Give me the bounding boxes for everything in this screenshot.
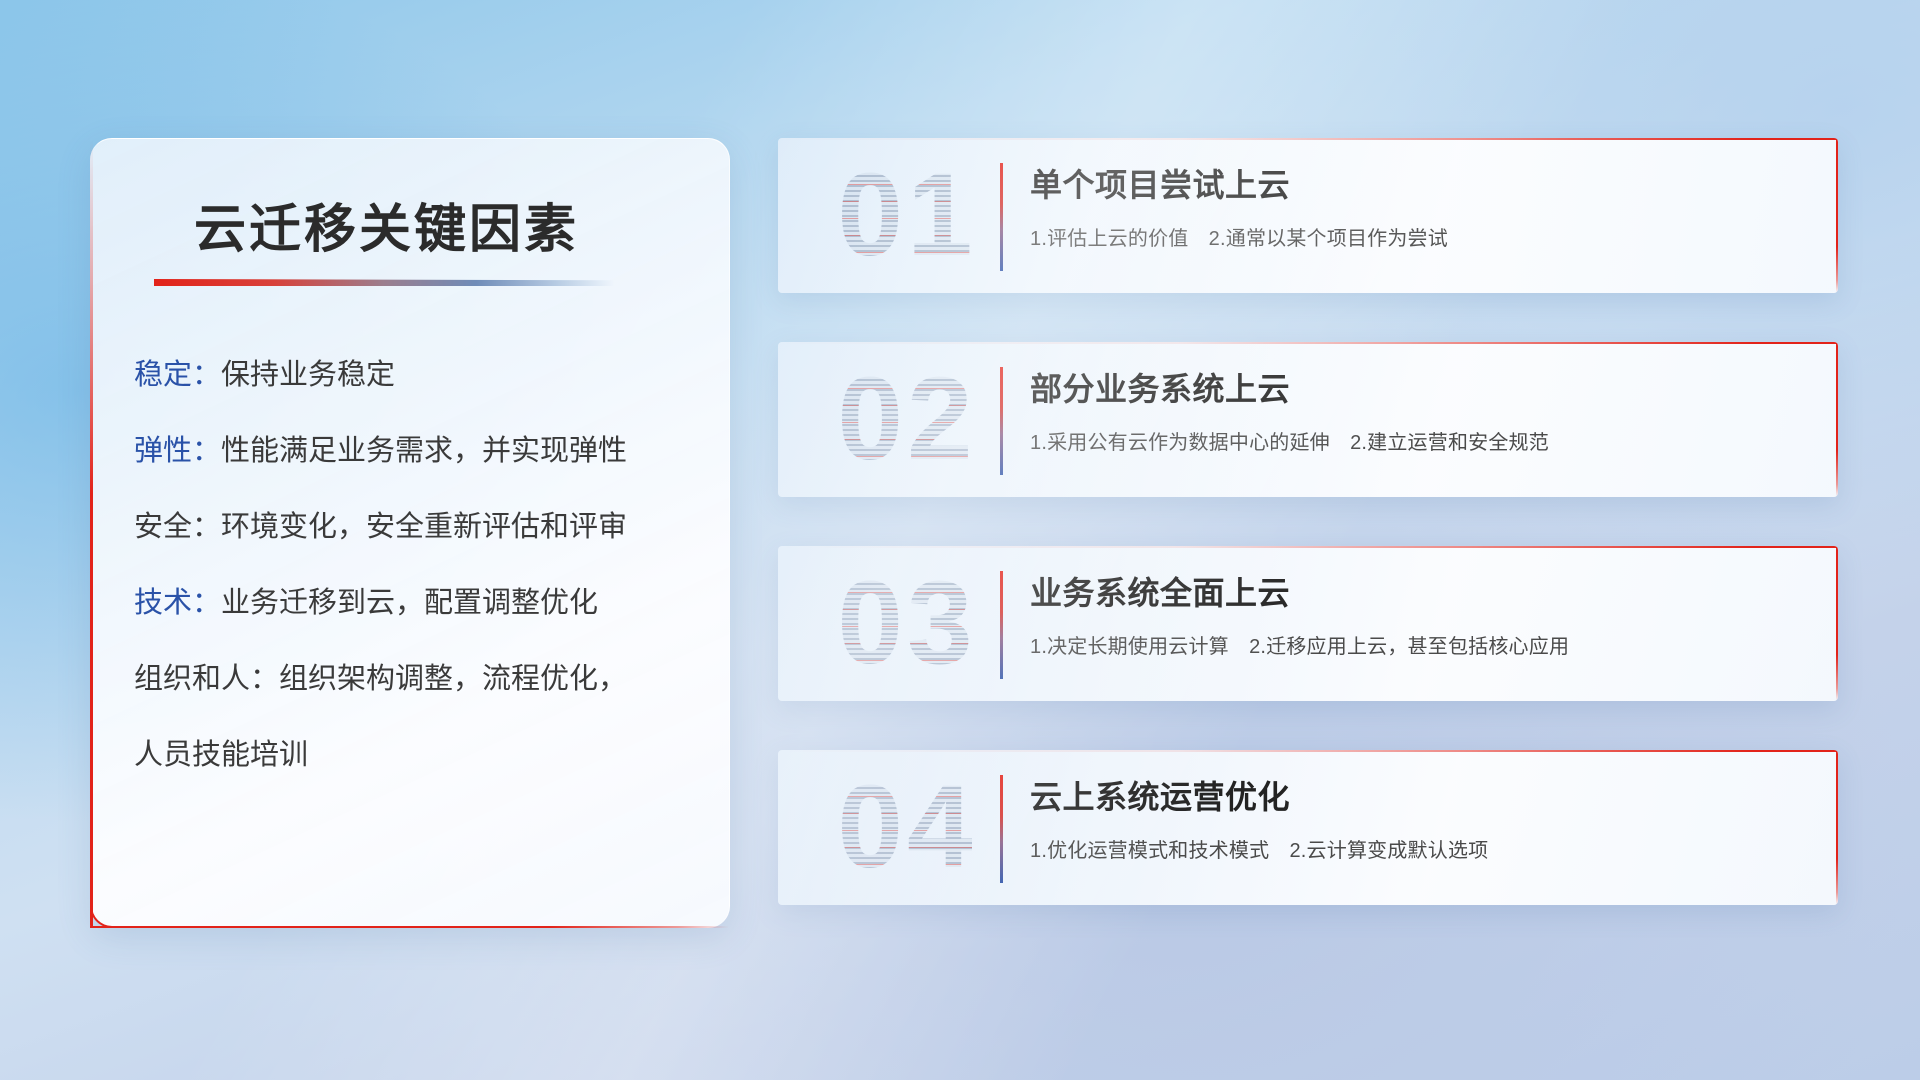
slide-canvas: 云迁移关键因素 稳定：保持业务稳定 弹性：性能满足业务需求，并实现弹性 安全：环… [0, 0, 1920, 1080]
factor-label: 稳定： [134, 359, 221, 391]
step-description: 1.决定长期使用云计算 2.迁移应用上云，甚至包括核心应用 [1030, 630, 1814, 659]
step-card-04[interactable]: 04 04 04 云上系统运营优化 1.优化运营模式和技术模式 2.云计算变成默… [778, 750, 1838, 905]
step-title: 云上系统运营优化 [1030, 772, 1814, 818]
factor-text: 组织架构调整，流程优化， [279, 663, 627, 695]
step-number-tint: 02 [812, 354, 1002, 484]
factor-text: 环境变化，安全重新评估和评审 [221, 511, 627, 543]
factor-item-organization: 组织和人：组织架构调整，流程优化， [134, 665, 705, 694]
card-body: 单个项目尝试上云 1.评估上云的价值 2.通常以某个项目作为尝试 [1030, 160, 1814, 251]
page-title: 云迁移关键因素 [194, 187, 579, 262]
step-card-02[interactable]: 02 02 02 部分业务系统上云 1.采用公有云作为数据中心的延伸 2.建立运… [778, 342, 1838, 497]
card-body: 业务系统全面上云 1.决定长期使用云计算 2.迁移应用上云，甚至包括核心应用 [1030, 568, 1814, 659]
card-divider-bar [1000, 571, 1003, 679]
factor-label: 弹性： [134, 435, 221, 467]
card-right-accent-rule [1836, 138, 1838, 293]
step-number-tint: 03 [812, 558, 1002, 688]
card-divider-bar [1000, 775, 1003, 883]
factor-text: 业务迁移到云，配置调整优化 [221, 587, 598, 619]
card-divider-bar [1000, 367, 1003, 475]
factor-label: 安全： [134, 511, 221, 543]
step-description: 1.优化运营模式和技术模式 2.云计算变成默认选项 [1030, 834, 1814, 863]
card-body: 部分业务系统上云 1.采用公有云作为数据中心的延伸 2.建立运营和安全规范 [1030, 364, 1814, 455]
step-card-01[interactable]: 01 01 01 单个项目尝试上云 1.评估上云的价值 2.通常以某个项目作为尝… [778, 138, 1838, 293]
factor-item-security: 安全：环境变化，安全重新评估和评审 [134, 513, 705, 542]
migration-steps-list: 01 01 01 单个项目尝试上云 1.评估上云的价值 2.通常以某个项目作为尝… [778, 138, 1838, 954]
step-number-tint: 01 [812, 150, 1002, 280]
card-body: 云上系统运营优化 1.优化运营模式和技术模式 2.云计算变成默认选项 [1030, 772, 1814, 863]
card-right-accent-rule [1836, 750, 1838, 905]
panel-accent-bottom-edge [90, 926, 729, 929]
factor-item-stability: 稳定：保持业务稳定 [134, 361, 705, 390]
step-description: 1.采用公有云作为数据中心的延伸 2.建立运营和安全规范 [1030, 426, 1814, 455]
factor-text: 性能满足业务需求，并实现弹性 [221, 435, 627, 467]
panel-accent-corner [90, 896, 122, 928]
factor-label: 组织和人： [134, 663, 279, 695]
card-top-accent-rule [778, 342, 1838, 344]
step-title: 业务系统全面上云 [1030, 568, 1814, 614]
factor-item-organization-wrap: 人员技能培训 [134, 741, 705, 770]
card-right-accent-rule [1836, 546, 1838, 701]
card-divider-bar [1000, 163, 1003, 271]
factor-text-continued: 人员技能培训 [134, 739, 308, 771]
title-underline-rule [154, 279, 614, 286]
step-description: 1.评估上云的价值 2.通常以某个项目作为尝试 [1030, 222, 1814, 251]
step-title: 单个项目尝试上云 [1030, 160, 1814, 206]
card-top-accent-rule [778, 546, 1838, 548]
key-factors-panel: 云迁移关键因素 稳定：保持业务稳定 弹性：性能满足业务需求，并实现弹性 安全：环… [90, 138, 730, 928]
factor-item-technology: 技术：业务迁移到云，配置调整优化 [134, 589, 705, 618]
step-title: 部分业务系统上云 [1030, 364, 1814, 410]
factor-text: 保持业务稳定 [221, 359, 395, 391]
factor-label: 技术： [134, 587, 221, 619]
card-top-accent-rule [778, 138, 1838, 140]
step-number-tint: 04 [812, 762, 1002, 892]
factor-item-elasticity: 弹性：性能满足业务需求，并实现弹性 [134, 437, 705, 466]
card-right-accent-rule [1836, 342, 1838, 497]
factor-list: 稳定：保持业务稳定 弹性：性能满足业务需求，并实现弹性 安全：环境变化，安全重新… [134, 361, 705, 817]
card-top-accent-rule [778, 750, 1838, 752]
panel-accent-left-edge [90, 139, 93, 928]
step-card-03[interactable]: 03 03 03 业务系统全面上云 1.决定长期使用云计算 2.迁移应用上云，甚… [778, 546, 1838, 701]
